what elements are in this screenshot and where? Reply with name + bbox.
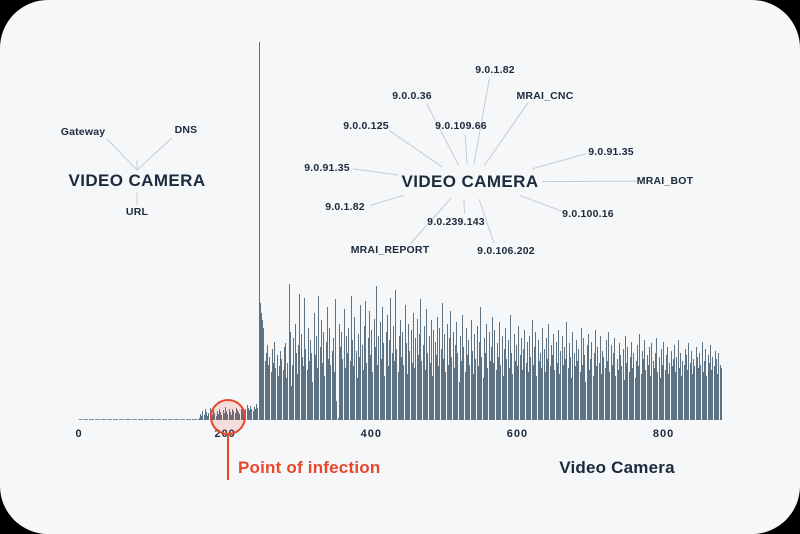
point-of-infection-leader-line xyxy=(227,435,229,480)
bar-series xyxy=(0,0,800,534)
x-tick-label: 800 xyxy=(653,428,674,440)
bar xyxy=(721,368,722,420)
x-tick-label: 0 xyxy=(75,428,82,440)
x-tick-label: 400 xyxy=(361,428,382,440)
chart-card: VIDEO CAMERA Gateway DNS URL VIDEO CAMER… xyxy=(0,0,800,534)
x-tick-label: 600 xyxy=(507,428,528,440)
x-axis-title: Video Camera xyxy=(559,458,674,478)
point-of-infection-label: Point of infection xyxy=(238,458,380,478)
point-of-infection-marker xyxy=(210,399,246,435)
